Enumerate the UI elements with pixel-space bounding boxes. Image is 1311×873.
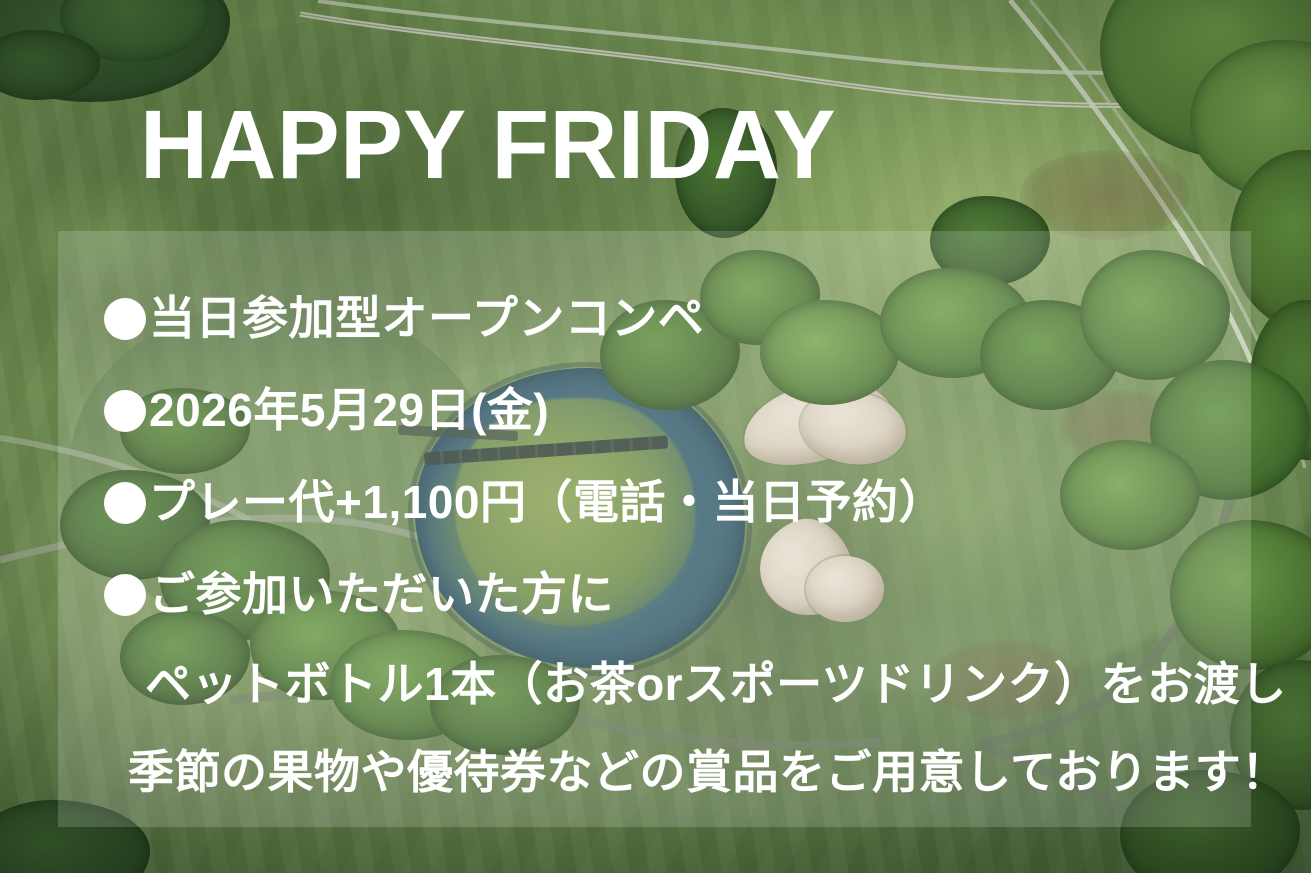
page-title: HAPPY FRIDAY xyxy=(140,96,836,193)
list-item: 2026年5月29日(金) xyxy=(104,364,1254,456)
list-item: プレー代+1,100円（電話・当日予約） xyxy=(104,456,1254,548)
list-item-label: 当日参加型オープンコンペ xyxy=(149,292,704,344)
bullet-icon xyxy=(104,482,146,524)
list-item-continuation: ペットボトル1本（お茶orスポーツドリンク）をお渡し xyxy=(104,640,1254,728)
list-item-label: プレー代+1,100円（電話・当日予約） xyxy=(149,476,945,528)
bullet-icon xyxy=(104,390,146,432)
list-item-label: 季節の果物や優待券などの賞品をご用意しております！ xyxy=(128,746,1288,798)
list-item-label: 2026年5月29日(金) xyxy=(149,384,549,436)
bullet-icon xyxy=(104,298,146,340)
promo-poster: HAPPY FRIDAY 当日参加型オープンコンペ 2026年5月29日(金) … xyxy=(0,0,1311,873)
list-item-label: ペットボトル1本（お茶orスポーツドリンク）をお渡し xyxy=(145,658,1287,710)
list-item: ご参加いただいた方に xyxy=(104,548,1254,640)
list-item: 当日参加型オープンコンペ xyxy=(104,272,1254,364)
details-list: 当日参加型オープンコンペ 2026年5月29日(金) プレー代+1,100円（電… xyxy=(104,272,1254,816)
bullet-icon xyxy=(104,574,146,616)
list-item-label: ご参加いただいた方に xyxy=(149,568,614,620)
list-item-continuation: 季節の果物や優待券などの賞品をご用意しております！ xyxy=(104,728,1254,816)
